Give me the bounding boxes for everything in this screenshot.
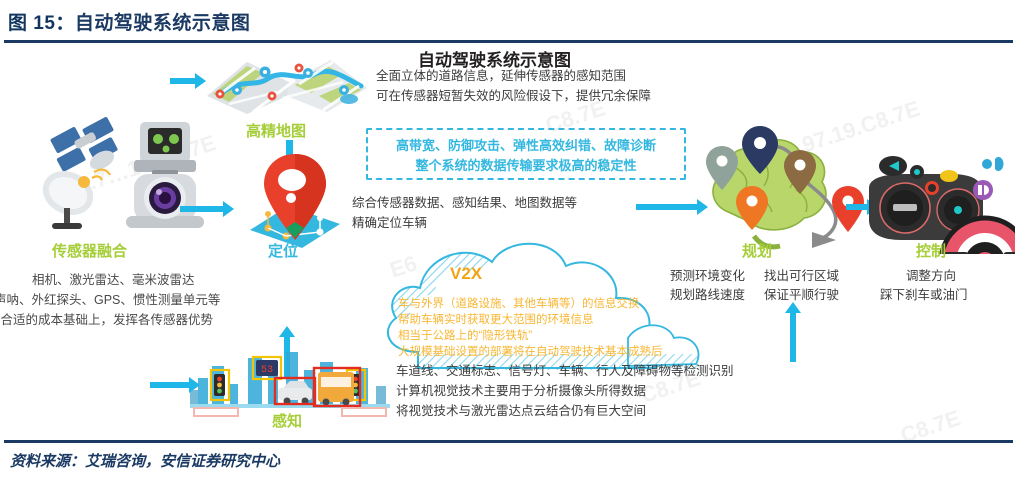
cloud-line1: 车与外界（道路设施、其他车辆等）的信息交换 (398, 296, 640, 312)
detected-bus (314, 368, 360, 406)
hd-map-illustration (203, 52, 371, 118)
cloud-line2: 帮助车辆实时获取更大范围的环境信息 (398, 312, 594, 328)
arrow-sensors-to-localization (180, 206, 224, 212)
locate-note-line1: 综合传感器数据、感知结果、地图数据等 (352, 195, 577, 212)
v2x-title: V2X (450, 264, 482, 284)
page-title: 图 15：自动驾驶系统示意图 (8, 8, 250, 35)
caption-perception: 感知 (272, 410, 302, 431)
perception-note-line3: 将视觉技术与激光雷达点云结合仍有巨大空间 (396, 403, 646, 420)
arrow-to-planning-up (790, 312, 796, 362)
control-dashboard-illustration (865, 154, 1015, 254)
cloud-line4: 大规模基础设置的部署将在自动驾驶技术基本成熟后 (398, 344, 663, 360)
arrow-to-perception (150, 382, 190, 388)
source-note: 资料来源：艾瑞咨询，安信证券研究中心 (10, 450, 280, 471)
network-callout-line1: 高带宽、防御攻击、弹性高效纠错、故障诊断 (368, 135, 684, 154)
map-note-line2: 可在传感器短暂失效的风险假设下，提供冗余保障 (376, 88, 651, 105)
perception-note-line1: 车道线、交通标志、信号灯、车辆、行人及障碍物等检测识别 (396, 363, 734, 380)
map-note-line1: 全面立体的道路信息，延伸传感器的感知范围 (376, 68, 626, 85)
control-note-line1: 调整方向 (906, 268, 956, 285)
perception-note-line2: 计算机视觉技术主要用于分析摄像头所得数据 (396, 383, 646, 400)
footer-divider (4, 440, 1013, 443)
planning-brain-illustration (700, 124, 880, 254)
figure-title-text: 自动驾驶系统示意图 (75, 13, 251, 34)
header-divider (4, 40, 1013, 43)
caption-hd-map: 高精地图 (246, 120, 306, 141)
figure-label: 图 15： (8, 13, 75, 34)
sensor-icons-group (22, 108, 212, 238)
radar-dish-icon (36, 163, 110, 229)
caption-planning: 规划 (742, 240, 772, 261)
plan-note-line2b: 保证平顺行驶 (764, 287, 839, 304)
plan-note-line1a: 预测环境变化 (670, 268, 745, 285)
sensor-note-line1: 相机、激光雷达、毫米波雷达 (32, 272, 195, 289)
plan-note-line2a: 规划路线速度 (670, 287, 745, 304)
arrow-localization-to-planning (636, 204, 698, 210)
network-callout-box: 高带宽、防御攻击、弹性高效纠错、故障诊断 整个系统的数据传输要求极高的稳定性 (366, 128, 686, 180)
control-note-line2: 踩下刹车或油门 (880, 287, 968, 304)
speed-sign: 53 (253, 357, 281, 379)
lidar-icon (134, 122, 196, 175)
plan-note-line1b: 找出可行区域 (764, 268, 839, 285)
figure-page: 图 15：自动驾驶系统示意图 E6.7…19.C8.7E C8.7E E6 97… (0, 0, 1017, 487)
caption-control: 控制 (916, 240, 946, 261)
caption-localization: 定位 (268, 240, 298, 261)
camera-icon (126, 174, 204, 228)
locate-note-line2: 精确定位车辆 (352, 215, 427, 232)
sensor-note-line2: 声呐、外红探头、GPS、惯性测量单元等 (0, 292, 220, 309)
satellite-icon (50, 116, 118, 173)
sensor-note-line3: 在合适的成本基础上，发挥各传感器优势 (0, 312, 213, 329)
cloud-line3: 相当于公路上的“隐形铁轨” (398, 328, 532, 344)
network-callout-line2: 整个系统的数据传输要求极高的稳定性 (368, 155, 684, 174)
v2x-cloud: V2X 车与外界（道路设施、其他车辆等）的信息交换 帮助车辆实时获取更大范围的环… (378, 234, 708, 379)
caption-sensor-fusion: 传感器融合 (52, 240, 127, 261)
arrow-to-map (170, 78, 196, 84)
diagram-canvas: E6.7…19.C8.7E C8.7E E6 97.19.C8.7E C8.7E… (0, 44, 1017, 438)
svg-text:53: 53 (261, 365, 273, 376)
